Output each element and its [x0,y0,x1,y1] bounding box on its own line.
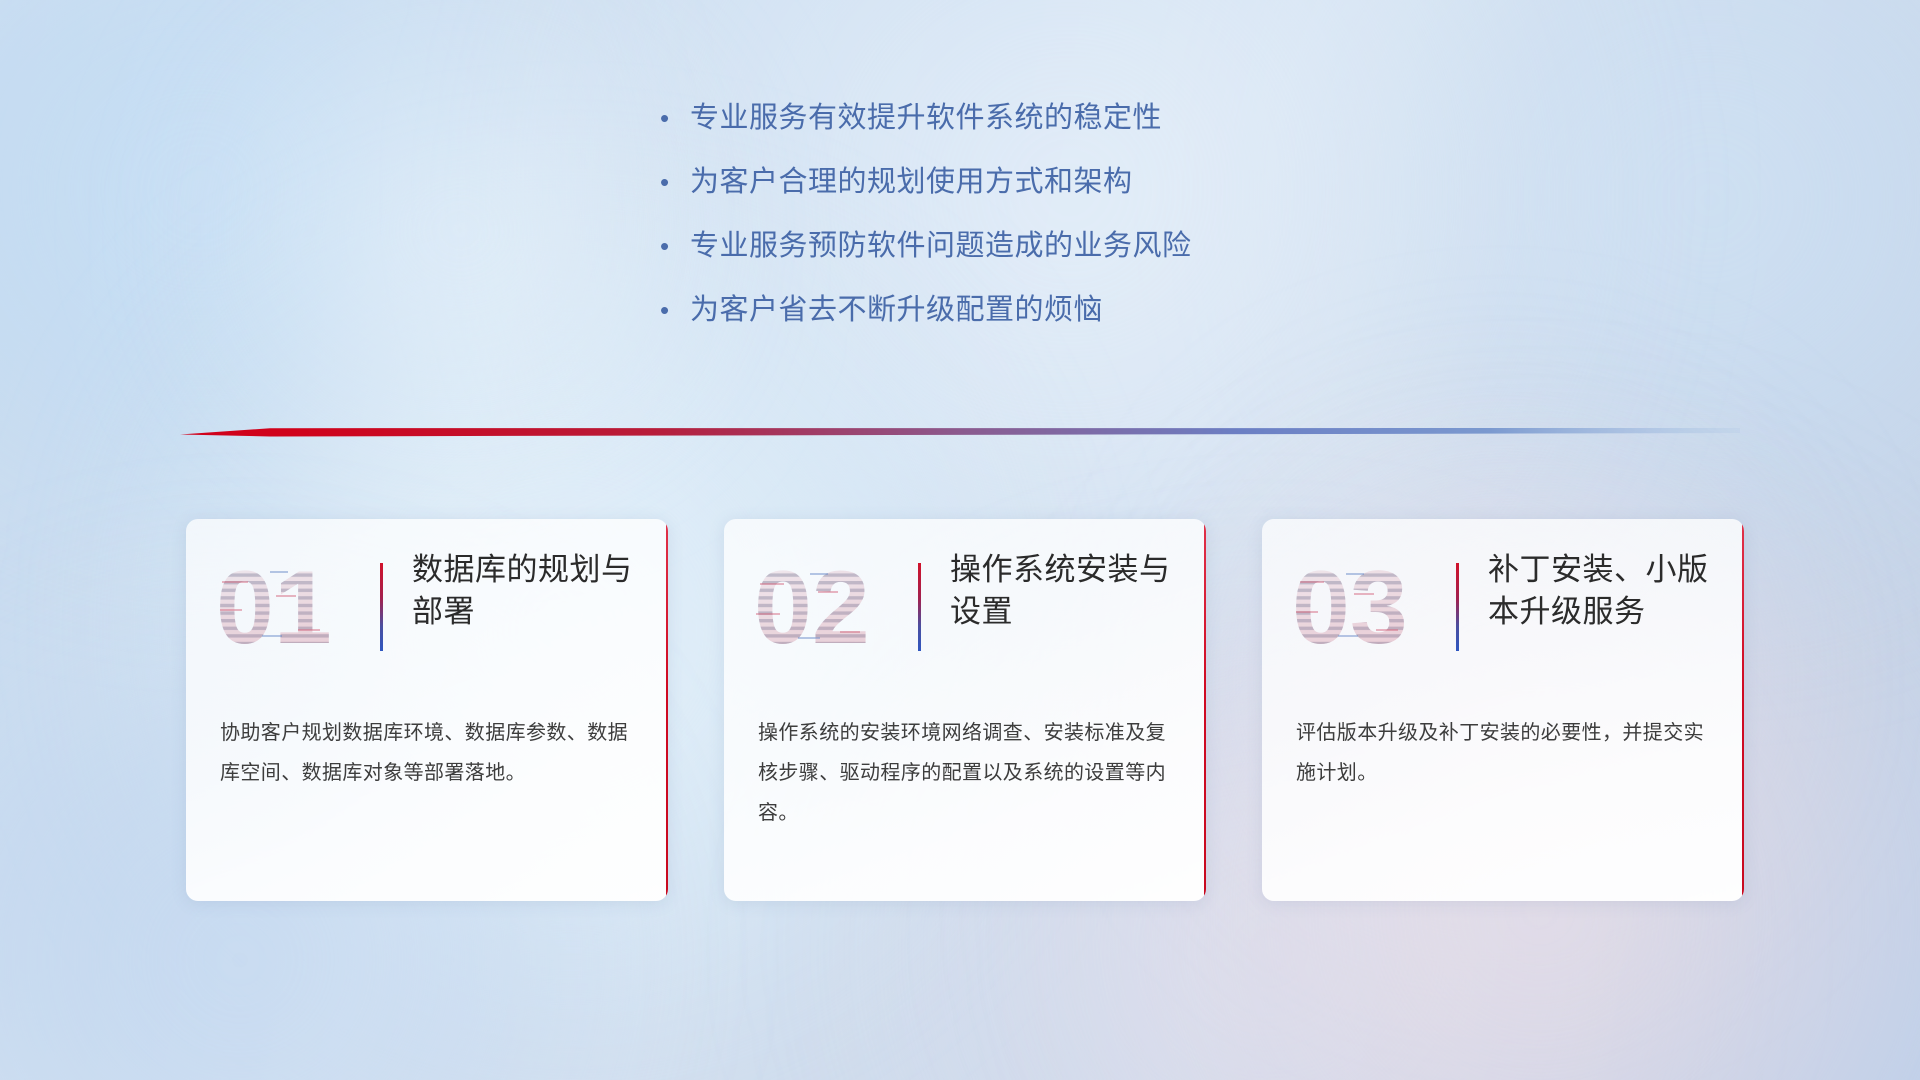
list-item: • 为客户省去不断升级配置的烦恼 [660,296,1420,325]
service-card-03[interactable]: 03 03 补丁安装、小版本升级服务 [1262,519,1744,901]
card-title: 数据库的规划与部署 [412,549,646,633]
bullet-dot-icon: • [660,105,690,131]
svg-text:02: 02 [754,550,870,663]
bullet-text: 专业服务预防软件问题造成的业务风险 [690,232,1192,261]
section-divider [180,424,1740,438]
service-cards-row: 01 01 数据库的规划与部署 [186,519,1746,909]
card-title: 补丁安装、小版本升级服务 [1488,549,1722,633]
title-accent-bar [1456,563,1459,651]
service-card-01[interactable]: 01 01 数据库的规划与部署 [186,519,668,901]
divider-shape [180,424,1740,438]
bullet-text: 为客户省去不断升级配置的烦恼 [690,296,1103,325]
benefits-bullet-list: • 专业服务有效提升软件系统的稳定性 • 为客户合理的规划使用方式和架构 • 专… [660,104,1420,360]
bullet-text: 专业服务有效提升软件系统的稳定性 [690,104,1162,133]
list-item: • 为客户合理的规划使用方式和架构 [660,168,1420,197]
card-description: 操作系统的安装环境网络调查、安装标准及复核步骤、驱动程序的配置以及系统的设置等内… [758,713,1178,833]
watermark-number-03-icon: 03 03 [1290,543,1438,663]
card-header: 02 02 操作系统安装与设置 [724,519,1206,687]
watermark-number-01-icon: 01 01 [214,543,362,663]
title-accent-bar [380,563,383,651]
bullet-dot-icon: • [660,297,690,323]
list-item: • 专业服务有效提升软件系统的稳定性 [660,104,1420,133]
service-card-02[interactable]: 02 02 操作系统安装与设置 [724,519,1206,901]
bullet-dot-icon: • [660,233,690,259]
list-item: • 专业服务预防软件问题造成的业务风险 [660,232,1420,261]
bullet-text: 为客户合理的规划使用方式和架构 [690,168,1133,197]
svg-text:01: 01 [216,550,332,663]
card-header: 01 01 数据库的规划与部署 [186,519,668,687]
card-title: 操作系统安装与设置 [950,549,1184,633]
slide-content: • 专业服务有效提升软件系统的稳定性 • 为客户合理的规划使用方式和架构 • 专… [0,0,1920,1080]
watermark-number-02-icon: 02 02 [752,543,900,663]
card-header: 03 03 补丁安装、小版本升级服务 [1262,519,1744,687]
title-accent-bar [918,563,921,651]
bullet-dot-icon: • [660,169,690,195]
card-description: 评估版本升级及补丁安装的必要性，并提交实施计划。 [1296,713,1716,793]
svg-text:03: 03 [1292,550,1408,663]
card-description: 协助客户规划数据库环境、数据库参数、数据库空间、数据库对象等部署落地。 [220,713,640,793]
